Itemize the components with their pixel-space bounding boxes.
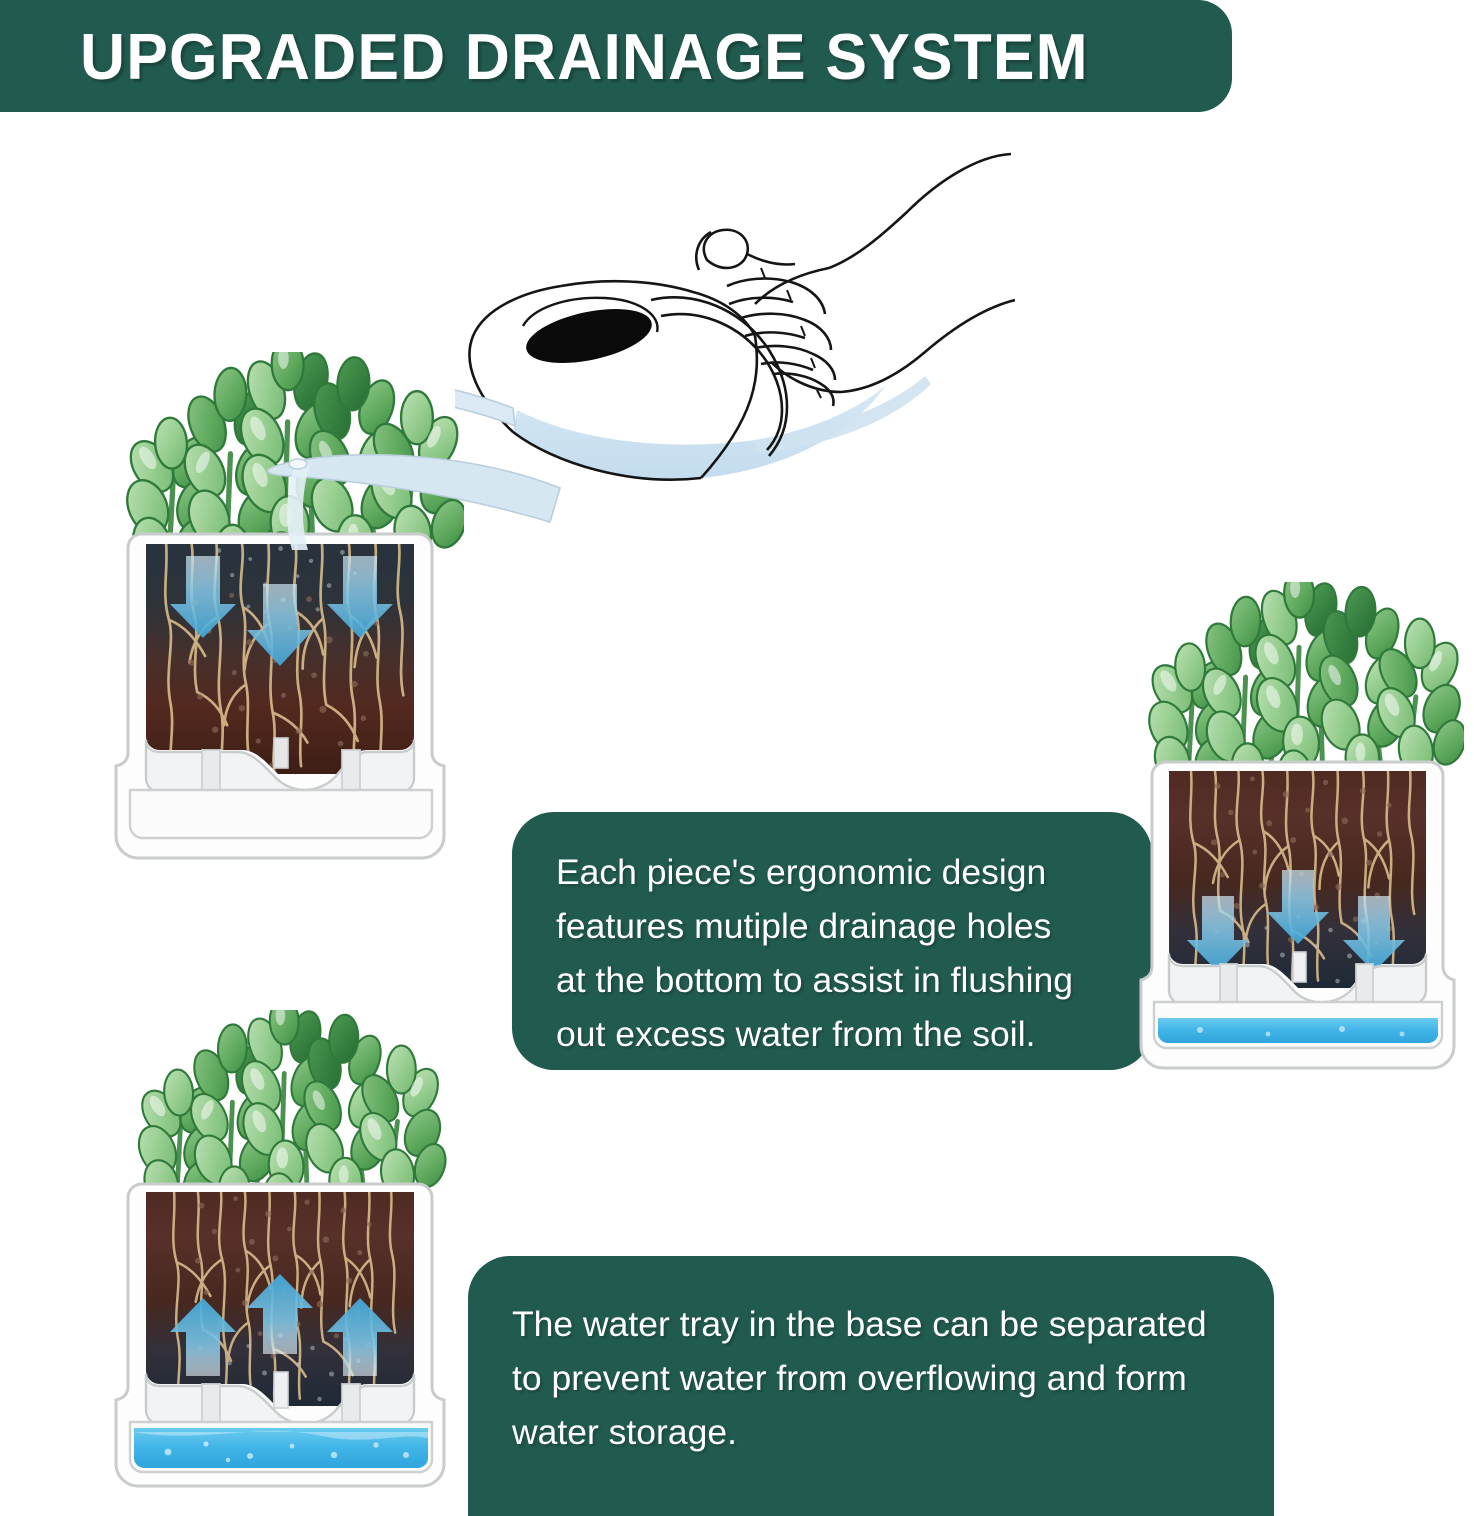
water-tray-empty bbox=[130, 790, 432, 838]
infographic-canvas: UPGRADED DRAINAGE SYSTEM Each piece's er… bbox=[0, 0, 1474, 1500]
illustration-planter-draining bbox=[1136, 578, 1474, 1086]
illustration-planter-watering bbox=[110, 348, 480, 878]
caption-line: Each piece's ergonomic design bbox=[556, 846, 1108, 900]
caption-drainage-holes: Each piece's ergonomic design features m… bbox=[512, 812, 1152, 1070]
caption-line: features mutiple drainage holes bbox=[556, 900, 1108, 954]
water-tray-shallow bbox=[1154, 1002, 1442, 1048]
can-handle bbox=[651, 297, 787, 456]
caption-line: water storage. bbox=[512, 1406, 1230, 1460]
caption-line: out excess water from the soil. bbox=[556, 1008, 1108, 1062]
caption-line: at the bottom to assist in flushing bbox=[556, 954, 1108, 1008]
water-stream bbox=[455, 370, 515, 426]
caption-line: to prevent water from overflowing and fo… bbox=[512, 1352, 1230, 1406]
caption-line: The water tray in the base can be separa… bbox=[512, 1298, 1230, 1352]
header-banner: UPGRADED DRAINAGE SYSTEM bbox=[0, 0, 1232, 112]
water-tray-full bbox=[130, 1422, 432, 1472]
illustration-planter-wicking bbox=[110, 1008, 470, 1500]
water-stream-into-pot bbox=[150, 430, 570, 580]
can-opening bbox=[521, 298, 657, 373]
caption-water-tray: The water tray in the base can be separa… bbox=[468, 1256, 1274, 1516]
page-title: UPGRADED DRAINAGE SYSTEM bbox=[80, 14, 1136, 98]
hand-illustration bbox=[696, 154, 1015, 406]
